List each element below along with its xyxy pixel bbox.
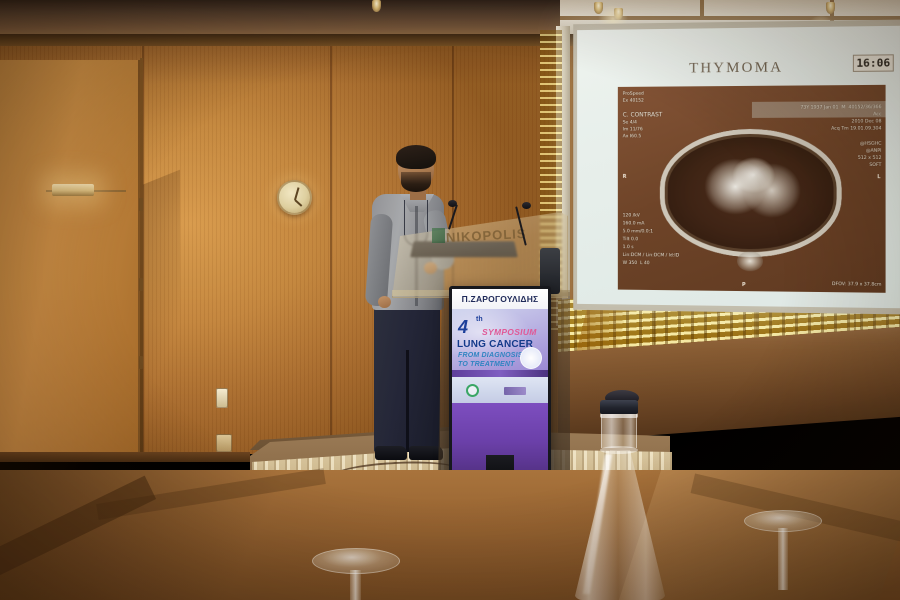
- wall-clock: [277, 180, 312, 215]
- poster-sponsor-logo-green: [466, 384, 479, 397]
- ct-protocol-label: C. CONTRAST: [623, 111, 663, 120]
- ct-kernel-label: SOFT: [869, 163, 881, 170]
- microphone-head-right: [522, 202, 531, 209]
- ceiling-beam-2: [700, 0, 704, 20]
- ct-image-label: Im 11/76: [623, 127, 643, 134]
- ct-thickness-label: 5.0 mm/0.0:1: [623, 229, 653, 236]
- poster-subtitle-line1: FROM DIAGNOSIS: [458, 352, 523, 359]
- ct-lut-label: Lin:DCM / Lin:DCM / Id:ID: [623, 253, 679, 260]
- speaker-leg-split: [406, 350, 409, 452]
- nikopolis-logo-mark: [432, 228, 445, 243]
- poster-topic-label: LUNG CANCER: [457, 339, 533, 350]
- ct-orientation-left: L: [877, 174, 880, 180]
- ct-orientation-right: R: [623, 174, 627, 180]
- conference-photo-scene: THYMOMA 16:06 ProSpeed Ex 40152 C. CONTR…: [0, 0, 900, 600]
- ct-station-label: @HSGHC: [860, 142, 882, 149]
- poster-symposium-label: SYMPOSIUM: [482, 327, 537, 337]
- wall-top-trim: [0, 34, 576, 46]
- water-bottle: [572, 396, 668, 600]
- clock-hand-minute: [294, 187, 299, 200]
- baseboard-trim: [0, 452, 250, 462]
- ct-exam-label: Ex 40152: [623, 99, 644, 106]
- ct-axial-label: Ax I60.5: [623, 134, 641, 141]
- room-door[interactable]: [0, 60, 140, 458]
- wine-glass-right-stem: [778, 528, 788, 590]
- speaker-hand-left: [378, 296, 391, 308]
- poster-sponsor-band: [452, 370, 548, 377]
- spotlight-1: [372, 0, 381, 12]
- ct-thorax-anatomy: [660, 128, 842, 257]
- speaker-shoe-left: [375, 446, 407, 460]
- projection-screen: THYMOMA 16:06 ProSpeed Ex 40152 C. CONTR…: [577, 26, 900, 308]
- ct-tilt-label: Tilt 0.0: [623, 237, 638, 244]
- spotlight-4: [826, 2, 835, 14]
- door-hinge-top: [139, 198, 143, 211]
- symposium-poster: 4 th SYMPOSIUM LUNG CANCER FROM DIAGNOSI…: [452, 309, 548, 403]
- ct-acq-time-label: Acq Tm 19.01.09.304: [831, 126, 881, 133]
- ct-patient-label: 73Y 1937 Jan 01 M 40152/36/366: [800, 105, 881, 112]
- wall-seam-2: [330, 34, 332, 454]
- ct-series-label: Se 4/4: [623, 120, 637, 127]
- ct-orientation-posterior: P: [742, 282, 746, 288]
- poster-circle-graphic: [520, 347, 542, 369]
- ct-matrix-label: 512 x 512: [858, 156, 882, 163]
- slide-title: THYMOMA: [577, 58, 900, 78]
- poster-edition-suffix: th: [476, 316, 483, 323]
- speaker-beard: [401, 172, 431, 192]
- door-hinge-mid: [139, 278, 143, 291]
- clock-hand-hour: [294, 199, 302, 207]
- ct-study-date-label: 2010 Dec 08: [851, 119, 881, 126]
- speaker-shoe-right: [409, 446, 443, 460]
- speaker-name-text: Π.ΖΑΡΟΓΟΥΛΙΔΗΣ: [462, 294, 539, 304]
- ct-kv-label: 120 /kV: [623, 213, 640, 220]
- speaker-hair: [396, 145, 436, 169]
- door-hinge-bottom: [139, 356, 143, 369]
- ct-scan-image: ProSpeed Ex 40152 C. CONTRAST Se 4/4 Im …: [618, 85, 886, 293]
- poster-subtitle-line2: TO TREATMENT: [458, 361, 515, 368]
- speaker-name-plate: Π.ΖΑΡΟΓΟΥΛΙΔΗΣ: [452, 289, 548, 309]
- ct-ma-label: 160.0 mA: [623, 221, 645, 228]
- wine-glass-left-stem: [350, 570, 361, 600]
- ct-acc-label: Acc: [873, 112, 881, 119]
- ct-scanner-label: ProSpeed: [623, 92, 644, 99]
- ct-spine: [737, 251, 763, 271]
- ct-window-label: W 350 L 40: [623, 261, 650, 268]
- podium-display[interactable]: Π.ΖΑΡΟΓΟΥΛΙΔΗΣ 4 th SYMPOSIUM LUNG CANCE…: [449, 286, 551, 478]
- microphone-head-left: [448, 200, 457, 207]
- poster-sponsor-logo-purple: [504, 387, 526, 395]
- poster-edition-number: 4: [458, 317, 468, 338]
- door-jamb: [140, 58, 143, 458]
- ct-dfov-label: DFOV: 37.9 x 37.8cm: [832, 282, 882, 289]
- wall-sconce-light: [52, 184, 94, 196]
- ct-exposure-label: 1.0 s: [623, 245, 634, 252]
- light-switch[interactable]: [216, 388, 228, 408]
- water-bottle-cap: [600, 400, 638, 414]
- ct-institution-label: @ANPI: [866, 149, 882, 156]
- slide-clock-overlay: 16:06: [853, 54, 894, 72]
